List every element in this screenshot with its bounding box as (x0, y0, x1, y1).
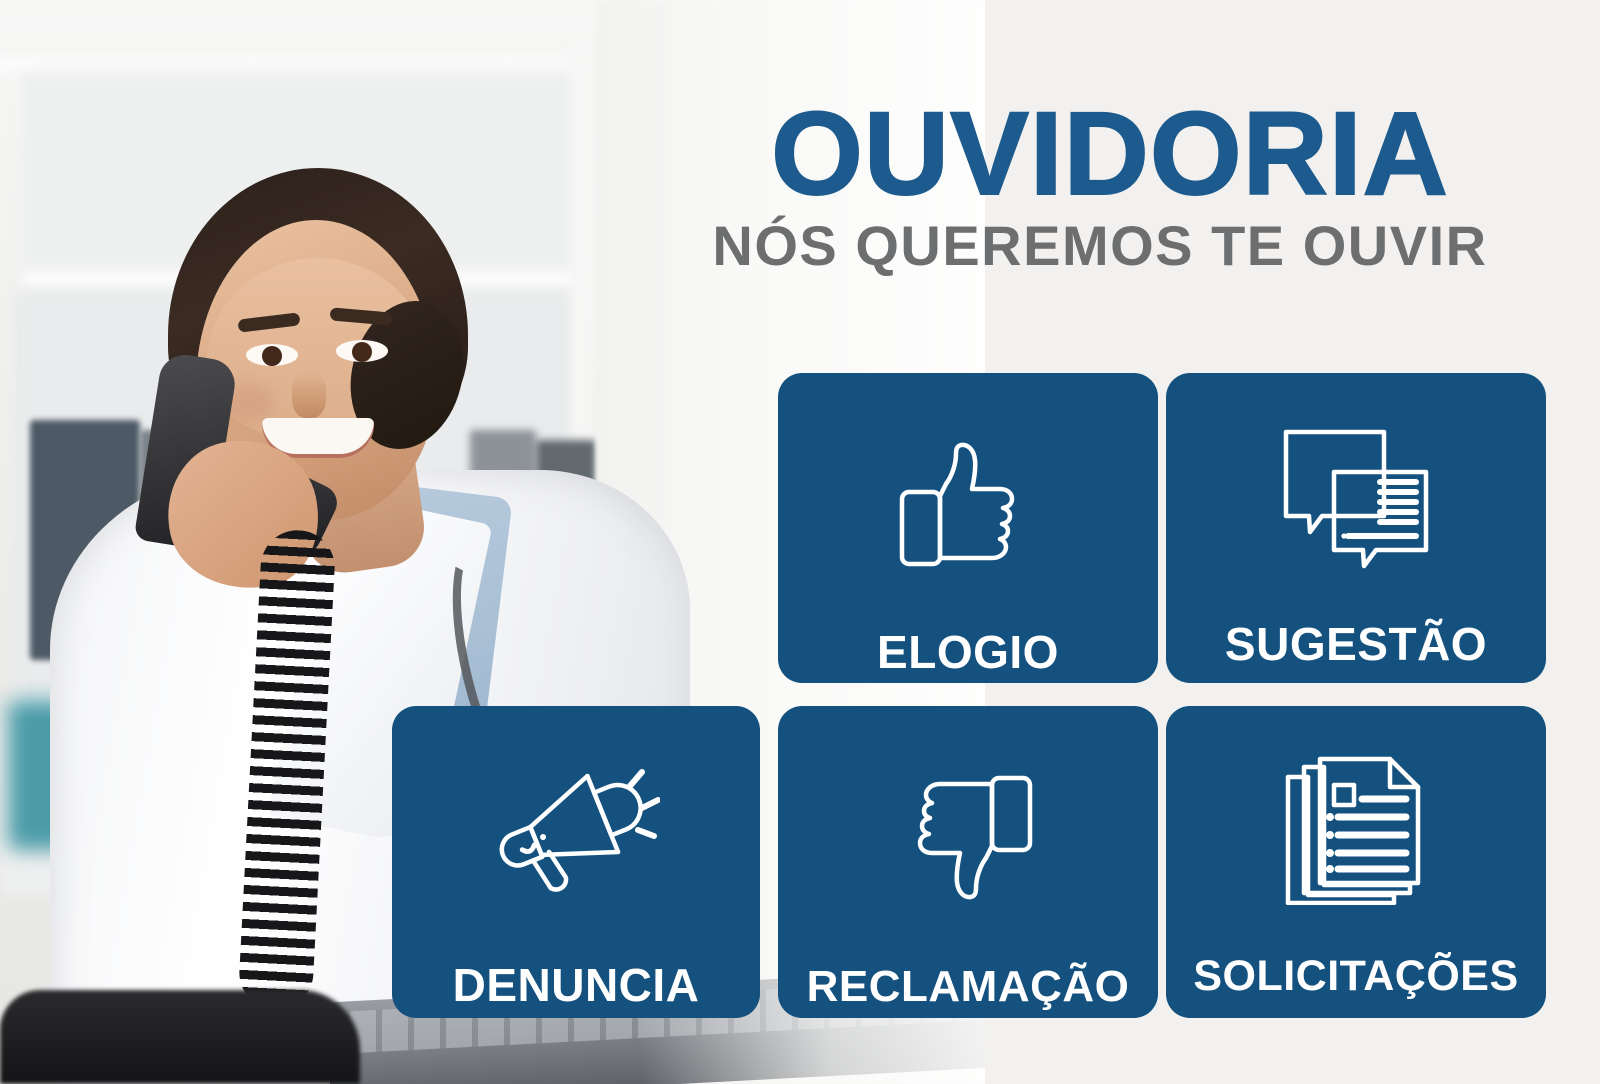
card-solicitacoes-label: SOLICITAÇÕES (1166, 952, 1546, 1001)
ouvidoria-banner: OUVIDORIA NÓS QUEREMOS TE OUVIR ELOGIO (0, 0, 1600, 1084)
documents-list-icon (1166, 706, 1546, 926)
card-denuncia[interactable]: DENUNCIA (392, 706, 760, 1018)
card-sugestao-label: SUGESTÃO (1166, 617, 1546, 671)
thumbs-up-icon (778, 373, 1158, 601)
card-reclamacao[interactable]: RECLAMAÇÃO (778, 706, 1158, 1018)
card-elogio[interactable]: ELOGIO (778, 373, 1158, 683)
pupil-left (262, 346, 282, 366)
speech-bubbles-icon (1166, 373, 1546, 593)
desk-phone-base (0, 990, 360, 1084)
card-denuncia-label: DENUNCIA (392, 958, 760, 1012)
card-sugestao[interactable]: SUGESTÃO (1166, 373, 1546, 683)
shelf-board-top (0, 58, 590, 72)
nose (292, 372, 326, 418)
pupil-right (352, 342, 372, 362)
card-solicitacoes[interactable]: SOLICITAÇÕES (1166, 706, 1546, 1018)
card-reclamacao-label: RECLAMAÇÃO (778, 962, 1158, 1012)
card-elogio-label: ELOGIO (778, 625, 1158, 679)
megaphone-icon (392, 706, 760, 932)
thumbs-down-icon (778, 706, 1158, 936)
